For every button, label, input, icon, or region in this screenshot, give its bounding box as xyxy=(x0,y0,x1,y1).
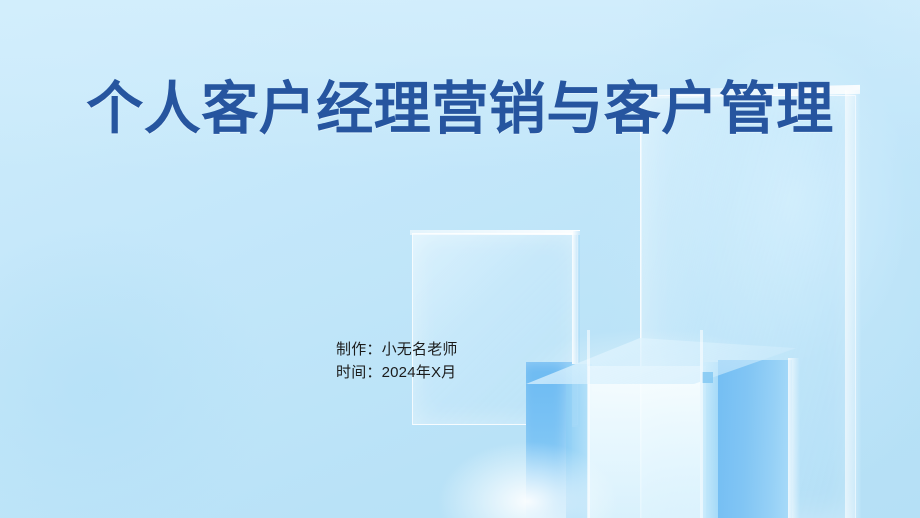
presentation-slide: 个人客户经理营销与客户管理 制作：小无名老师 时间：2024年X月 xyxy=(0,0,920,518)
byline-date: 时间：2024年X月 xyxy=(336,362,458,385)
cube-right-highlight xyxy=(788,358,800,518)
slide-title: 个人客户经理营销与客户管理 xyxy=(60,78,860,142)
glass-panel-tall-right-edge xyxy=(845,90,861,518)
cube-corner-notch xyxy=(702,372,713,383)
cube-face-front xyxy=(588,366,706,518)
slide-byline: 制作：小无名老师 时间：2024年X月 xyxy=(336,339,458,385)
background-wash-left xyxy=(0,180,310,518)
byline-author: 制作：小无名老师 xyxy=(336,339,458,362)
glass-panel-front-top-edge xyxy=(410,230,580,235)
cube-face-right xyxy=(718,360,792,518)
